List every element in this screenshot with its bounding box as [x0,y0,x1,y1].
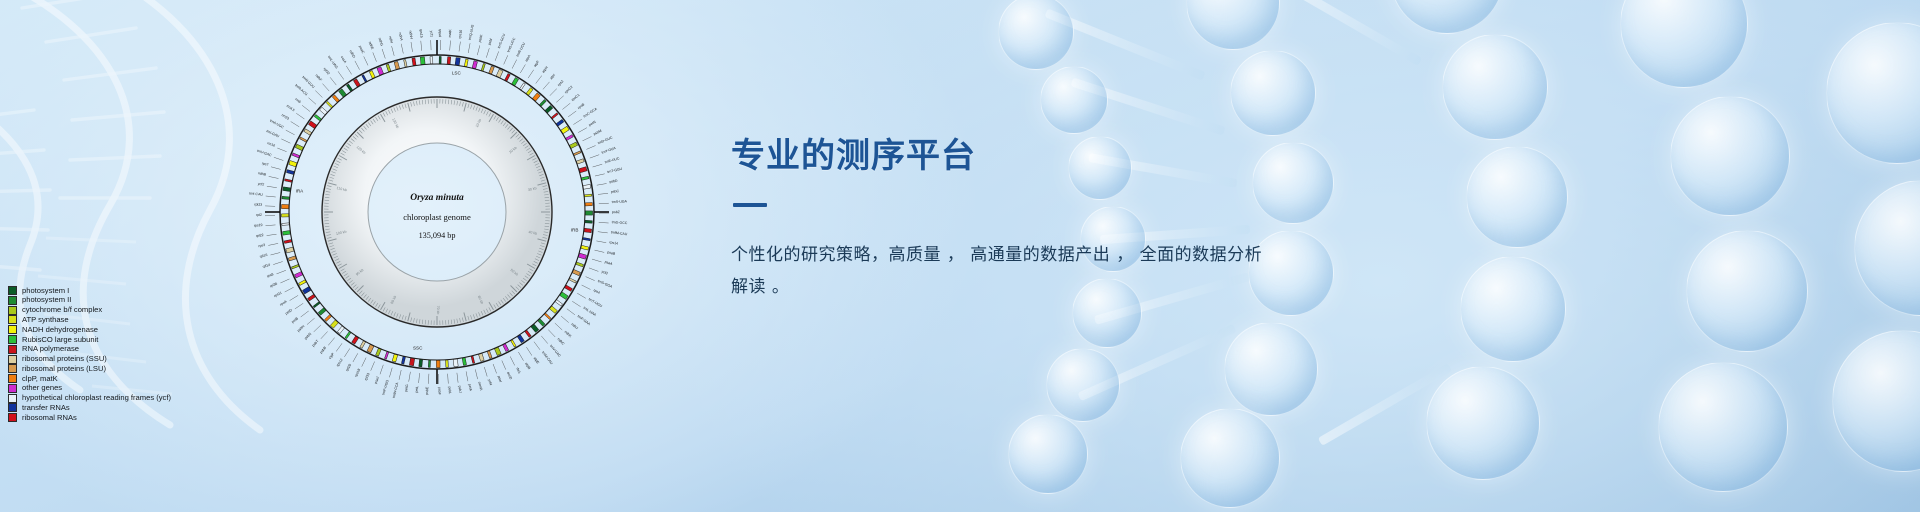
genome-gene-feature [453,359,458,367]
genome-gene-label: rps11 [273,291,282,299]
genome-gene-feature [489,66,494,74]
genome-gene-label: psbK [478,33,484,42]
genome-gene-feature [325,315,332,322]
genome-gene-label: petG [404,384,409,392]
legend-color-swatch [8,315,17,324]
genome-gene-feature [345,332,351,339]
genome-gene-feature [286,247,294,253]
genome-gene-feature [420,57,425,65]
genome-gene-label: trnV-UAC [549,344,562,358]
genome-gene-label: rps15 [419,29,424,38]
genome-gene-label: petA [468,384,473,392]
legend-item-label: ribosomal proteins (LSU) [22,365,106,373]
genome-gene-label: ccsA [340,55,348,64]
genome-gene-feature [386,64,391,72]
genome-gene-label: psaJ [374,376,380,385]
legend-item-label: hypothetical chloroplast reading frames … [22,394,171,402]
genome-organism-name: Oryza minuta [410,193,464,203]
legend-color-swatch [8,325,17,334]
genome-gene-feature [286,170,294,175]
genome-gene-label: accD [506,371,513,380]
legend-item-label: ribosomal proteins (SSU) [22,355,107,363]
genome-gene-feature [337,326,344,334]
genome-gene-label: psbF [437,387,441,395]
genome-gene-feature [539,99,546,106]
genome-gene-label: ndhC [556,337,565,346]
genome-gene-feature [496,69,503,77]
genome-gene-label: rpoA [279,299,288,307]
genome-gene-feature [526,88,533,96]
genome-gene-feature [584,228,592,232]
legend-item-label: ATP synthase [22,316,69,324]
genome-gene-label: psbH [297,324,306,333]
genome-gene-label: rrn23 [281,113,290,121]
genome-gene-feature [320,107,328,115]
title-underline-rule [733,203,767,207]
legend-color-swatch [8,296,17,305]
legend-item: ribosomal proteins (SSU) [8,354,248,363]
genome-gene-feature [472,61,477,69]
genome-gene-feature [401,356,405,364]
genome-gene-feature [572,269,580,275]
genome-gene-label: rrn4.5 [286,104,296,113]
genome-gene-feature [282,196,289,199]
genome-gene-label: rpoC2 [564,85,574,94]
genome-gene-feature [281,214,288,217]
legend-color-swatch [8,345,17,354]
genome-gene-feature [404,60,407,67]
genome-gene-label: rpl33 [364,372,371,381]
genome-gene-feature [551,113,558,119]
genome-gene-label: ndhF [314,73,322,82]
legend-item-label: photosystem I [22,287,69,295]
genome-gene-feature [282,223,289,226]
genome-gene-feature [332,95,339,102]
legend-item: hypothetical chloroplast reading frames … [8,394,248,403]
genome-gene-label: ndhE [368,41,375,51]
genome-gene-feature [384,352,388,359]
genome-gene-feature [436,360,440,367]
genome-gene-feature [308,294,316,301]
genome-gene-feature [487,351,492,359]
genome-gene-feature [512,78,519,86]
genome-gene-feature [583,238,590,241]
legend-item-label: ribosomal RNAs [22,414,77,422]
genome-gene-label: ycf4 [487,379,493,386]
genome-gene-label: atpA [524,54,531,63]
genome-gene-label: trnI-CAU [249,191,263,196]
genome-gene-feature [292,153,300,158]
genome-gene-feature [517,335,524,343]
genome-gene-label: atpF [533,60,540,68]
genome-gene-feature [545,105,553,113]
genome-gene-feature [352,336,359,344]
genome-gene-label: trnR-ACG [294,83,308,96]
genome-gene-label: atpH [541,65,549,74]
genome-gene-label: psaB [607,250,616,256]
legend-item: RubisCO large subunit [8,335,248,344]
genome-gene-label: clpP [328,352,336,360]
genome-gene-feature [392,354,397,362]
genome-gene-feature [585,220,592,223]
genome-gene-feature [326,101,333,108]
legend-color-swatch [8,335,17,344]
genome-gene-feature [581,176,589,180]
genome-gene-feature [555,300,562,306]
genome-gene-feature [569,278,576,283]
genome-gene-label: rpoC1 [571,93,581,102]
genome-gene-feature [428,360,430,367]
legend-item: RNA polymerase [8,345,248,354]
genome-gene-label: trnR-UCU [515,41,526,57]
legend-color-swatch [8,286,17,295]
genome-gene-label: rpl23 [254,203,262,207]
genome-gene-feature [299,280,307,286]
genome-gene-feature [283,187,291,192]
genome-gene-label: ycf3 [601,270,608,276]
genome-gene-feature [579,167,587,173]
genome-gene-feature [284,240,292,244]
legend-item: clpP, matK [8,374,248,383]
genome-gene-feature [295,144,303,150]
genome-gene-feature [585,211,592,215]
genome-gene-label: trnT-UGU [588,297,603,308]
genome-gene-feature [367,344,374,352]
genome-gene-label: psaC [358,45,365,55]
genome-gene-feature [447,57,451,64]
genome-gene-label: petD [285,308,294,316]
genome-gene-feature [376,348,382,356]
legend-item-label: cytochrome b/f complex [22,306,102,314]
genome-gene-label: ycf2 [258,182,265,187]
legend-color-swatch [8,374,17,383]
genome-gene-label: psbT [311,338,320,347]
genome-gene-label: trnC-GCA [583,106,599,118]
genome-gene-feature [377,67,384,75]
legend-color-swatch [8,384,17,393]
genome-gene-label: atpE [533,356,541,365]
genome-gene-feature [494,347,501,355]
genome-region-label: LSC [452,70,462,75]
genome-gene-label: ndhI [388,36,394,44]
genome-gene-feature [285,179,292,182]
genome-gene-feature [281,204,288,208]
genome-gene-label: trnS-GCU [497,33,506,49]
genome-gene-feature [520,83,526,90]
genome-gene-label: psbB [319,345,328,354]
genome-gene-feature [318,308,326,315]
genome-gene-label: rpl14 [262,263,271,269]
legend-item: ATP synthase [8,315,248,324]
genome-gene-label: psbC [611,189,620,194]
genome-gene-label: rbcL [515,367,522,375]
genome-gene-label: rps16 [458,29,463,38]
genome-gene-feature [462,358,466,366]
genome-gene-label: trnF-GAA [577,314,592,326]
genome-gene-label: trnY-GUA [601,146,617,155]
genome-gene-feature [464,59,468,67]
genome-gene-feature [570,142,578,148]
genome-tick-label: 70 kb [436,306,440,315]
genome-gene-label: trnD-GUC [597,135,613,145]
genome-gene-label: rpoB [577,102,586,110]
genome-gene-feature [576,159,584,164]
genome-gene-label: trnE-UUC [604,156,620,164]
genome-gene-feature [581,245,589,250]
genome-region-label: IRA [296,189,305,194]
legend-item: ribosomal RNAs [8,413,248,422]
genome-gene-feature [300,137,307,142]
genome-gene-label: ndhA [398,32,404,41]
genome-gene-label: psbA [438,28,442,37]
genome-gene-feature [481,63,485,70]
genome-gene-feature [353,79,360,87]
genome-gene-label: trnG-GCC [612,220,628,225]
legend-item-label: RNA polymerase [22,345,79,353]
hero-description: 个性化的研究策略，高质量 ， 高通量的数据产出 ， 全面的数据分析解读 。 [731,239,1271,304]
genome-gene-label: ycf1 [429,31,433,38]
genome-gene-label: rpl2 [256,213,262,217]
legend-item-label: other genes [22,384,62,392]
hero-banner: ticks LSCIRBSSCIRApsbAmatKrps16trnQ-UUGp… [0,0,1920,512]
genome-gene-feature [313,302,320,308]
chloroplast-genome-map: ticks LSCIRBSSCIRApsbAmatKrps16trnQ-UUGp… [240,10,650,410]
genome-gene-label: psaI [497,375,503,383]
genome-gene-feature [538,319,545,326]
genome-gene-feature [583,184,591,189]
genome-gene-label: trnN-GUU [301,75,315,89]
legend-color-swatch [8,355,17,364]
genome-gene-label: rpl22 [256,233,264,238]
legend-item: other genes [8,384,248,393]
genome-gene-feature [430,56,433,63]
genome-gene-feature [576,262,584,267]
genome-gene-feature [419,359,423,366]
genome-gene-feature [584,194,591,197]
genome-gene-label: rps14 [609,240,618,246]
legend-item: photosystem II [8,296,248,305]
genome-gene-label: ndhG [377,37,384,47]
genome-gene-label: trnfM-CAU [611,230,628,236]
genome-gene-label: psbD [609,179,618,184]
legend-color-swatch [8,403,17,412]
genome-gene-feature [360,341,366,349]
genome-gene-feature [283,231,291,236]
genome-gene-label: atpI [549,73,556,80]
genome-gene-label: psbI [487,38,493,46]
genome-gene-label: trnM-CAU [541,350,554,365]
genome-gene-label: rps7 [261,161,269,167]
genome-gene-feature [503,344,509,352]
genome-gene-label: psbE [425,386,429,395]
genome-gene-feature [439,56,441,63]
genome-gene-label: trnP-UGG [381,379,389,395]
genome-gene-label: trnL-UAG [327,55,339,70]
genome-gene-label: psbN [304,332,313,341]
genome-gene-feature [409,358,414,366]
genome-gene-feature [455,58,460,66]
legend-item-label: photosystem II [22,296,71,304]
genome-gene-label: trnI-GAU [266,129,281,139]
genome-gene-label: petL [414,386,419,393]
genome-gene-label: rrn5 [294,97,301,104]
genome-gene-feature [291,264,298,268]
genome-gene-label: rps18 [354,368,361,378]
genome-gene-feature [346,84,352,91]
genome-gene-label: psbM [593,129,603,136]
legend-item-label: transfer RNAs [22,404,70,412]
genome-region-label: IRB [571,227,579,232]
genome-gene-label: trnQ-UUG [468,24,475,40]
genome-gene-feature [544,313,551,319]
genome-gene-feature [369,71,375,79]
legend-color-swatch [8,306,17,315]
genome-gene-label: rps4 [593,288,601,295]
genome-gene-feature [304,129,312,135]
genome-gene-label: rpl32 [323,67,331,76]
genome-gene-label: rps8 [266,272,274,278]
genome-gene-label: rpl36 [269,282,278,289]
genome-gene-feature [412,58,416,66]
gene-category-legend: photosystem Iphotosystem IIcytochrome b/… [8,286,248,423]
genome-gene-feature [578,253,586,259]
genome-gene-label: ndhJ [570,322,579,330]
genome-gene-label: trnA-UGC [269,119,285,130]
genome-gene-label: trnW-CCA [392,381,400,398]
genome-gene-label: petN [588,120,597,127]
legend-item: transfer RNAs [8,403,248,412]
genome-gene-label: matK [448,28,453,37]
genome-gene-label: psbZ [612,210,621,214]
genome-gene-label: ndhD [349,49,357,59]
genome-gene-feature [289,161,297,167]
genome-gene-label: trnS-UGA [612,199,628,204]
genome-gene-feature [525,330,531,337]
genome-gene-label: rps2 [557,79,565,87]
genome-region-label: SSC [413,346,423,351]
legend-item-label: clpP, matK [22,375,58,383]
genome-gene-feature [445,360,448,367]
genome-gene-feature [479,353,485,361]
genome-gene-feature [394,61,399,69]
genome-gene-label: petB [291,316,300,324]
genome-gene-feature [511,340,516,347]
genome-gene-label: psaA [604,260,613,266]
genome-gene-label: trnG-UCC [506,37,516,53]
genome-gene-feature [288,256,296,261]
genome-gene-label: psbJ [458,385,463,393]
legend-item: cytochrome b/f complex [8,306,248,315]
genome-gene-label: psbL [448,386,452,394]
genome-gene-feature [565,285,573,291]
legend-color-swatch [8,394,17,403]
genome-gene-label: rrn16 [267,141,276,148]
legend-item-label: RubisCO large subunit [22,336,98,344]
genome-gene-label: trnT-GGU [607,167,623,174]
genome-gene-label: trnL-UAA [583,306,598,318]
genome-gene-label: ndhH [408,30,413,39]
legend-item-label: NADH dehydrogenase [22,326,98,334]
genome-gene-label: ndhB [258,171,267,177]
legend-color-swatch [8,413,17,422]
genome-gene-feature [471,356,475,363]
genome-gene-feature [566,135,574,141]
genome-gene-feature [573,151,580,156]
genome-gene-label: cemA [477,381,483,391]
genome-gene-feature [303,287,311,294]
genome-gene-label: rpl16 [259,253,268,259]
genome-gene-feature [314,114,321,120]
genome-gene-label: rps12 [336,358,344,368]
legend-item: NADH dehydrogenase [8,325,248,334]
legend-item: photosystem I [8,286,248,295]
genome-gene-label: atpB [524,362,531,371]
genome-gene-feature [550,306,558,313]
genome-gene-label: rps3 [258,243,266,248]
legend-item: ribosomal proteins (LSU) [8,364,248,373]
legend-color-swatch [8,364,17,373]
genome-gene-label: trnV-GAC [257,149,273,158]
hero-copy-block: 专业的测序平台 个性化的研究策略，高质量 ， 高通量的数据产出 ， 全面的数据分… [731,136,1371,303]
genome-gene-feature [585,202,592,205]
genome-gene-feature [295,272,303,278]
genome-gene-label: trnS-GGA [597,279,613,289]
genome-gene-feature [505,74,511,82]
genome-length: 135,094 bp [419,231,456,240]
genome-gene-feature [362,75,367,82]
page-title: 专业的测序平台 [731,136,1371,177]
genome-gene-feature [556,119,564,126]
genome-gene-label: ndhK [564,330,573,339]
genome-gene-label: rpl20 [345,363,352,372]
genome-gene-label: rps19 [254,223,263,228]
genome-subtitle: chloroplast genome [403,212,471,222]
